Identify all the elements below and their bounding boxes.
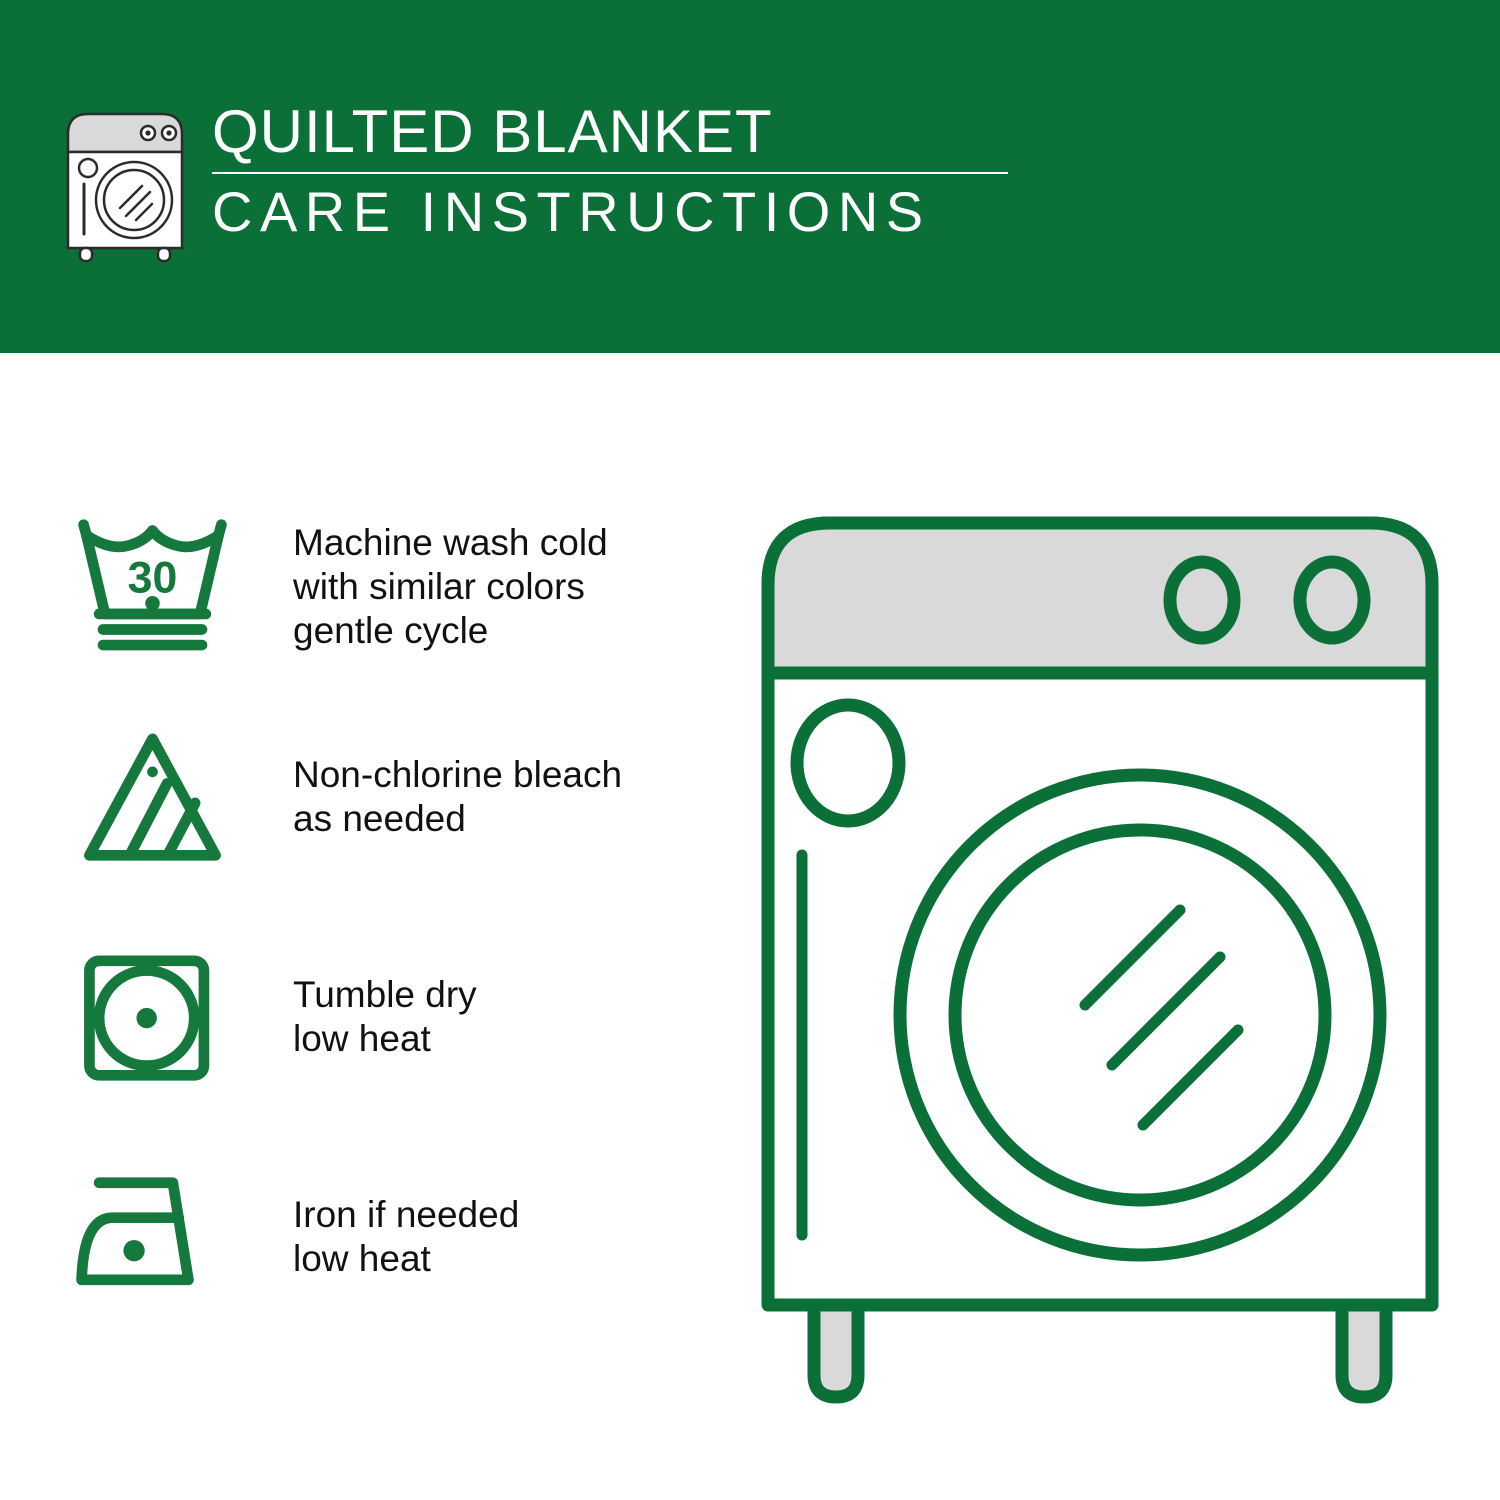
care-text-line: gentle cycle bbox=[293, 609, 710, 653]
header-banner: QUILTED BLANKET CARE INSTRUCTIONS bbox=[0, 0, 1500, 353]
care-row: Iron if needed low heat bbox=[70, 1165, 710, 1385]
machine-wash-30-gentle-icon: 30 bbox=[70, 505, 235, 660]
iron-low-heat-icon bbox=[70, 1165, 235, 1320]
care-instruction-list: 30 Machine wash cold with similar colors… bbox=[70, 505, 710, 1385]
page-subtitle: CARE INSTRUCTIONS bbox=[212, 181, 1062, 243]
care-text-line: with similar colors bbox=[293, 565, 710, 609]
care-text-line: Iron if needed bbox=[293, 1193, 710, 1237]
care-text-line: Tumble dry bbox=[293, 973, 710, 1017]
care-row: Tumble dry low heat bbox=[70, 945, 710, 1165]
care-row-text: Non-chlorine bleach as needed bbox=[293, 725, 710, 841]
wash-temperature-value: 30 bbox=[128, 554, 178, 603]
header-content: QUILTED BLANKET CARE INSTRUCTIONS bbox=[62, 98, 1062, 273]
washing-machine-icon bbox=[62, 104, 188, 264]
title-divider bbox=[212, 172, 1008, 174]
tumble-dry-low-icon bbox=[70, 945, 235, 1100]
care-text-line: as needed bbox=[293, 797, 710, 841]
care-text-line: low heat bbox=[293, 1237, 710, 1281]
care-row-text: Iron if needed low heat bbox=[293, 1165, 710, 1281]
front-load-washing-machine-illustration bbox=[740, 495, 1460, 1435]
non-chlorine-bleach-icon bbox=[70, 725, 235, 880]
care-row: Non-chlorine bleach as needed bbox=[70, 725, 710, 945]
care-text-line: Machine wash cold bbox=[293, 521, 710, 565]
care-row-text: Machine wash cold with similar colors ge… bbox=[293, 505, 710, 653]
care-text-line: low heat bbox=[293, 1017, 710, 1061]
care-row-text: Tumble dry low heat bbox=[293, 945, 710, 1061]
care-text-line: Non-chlorine bleach bbox=[293, 753, 710, 797]
care-row: 30 Machine wash cold with similar colors… bbox=[70, 505, 710, 725]
page-title: QUILTED BLANKET bbox=[212, 98, 1062, 166]
header-titles: QUILTED BLANKET CARE INSTRUCTIONS bbox=[212, 98, 1062, 243]
